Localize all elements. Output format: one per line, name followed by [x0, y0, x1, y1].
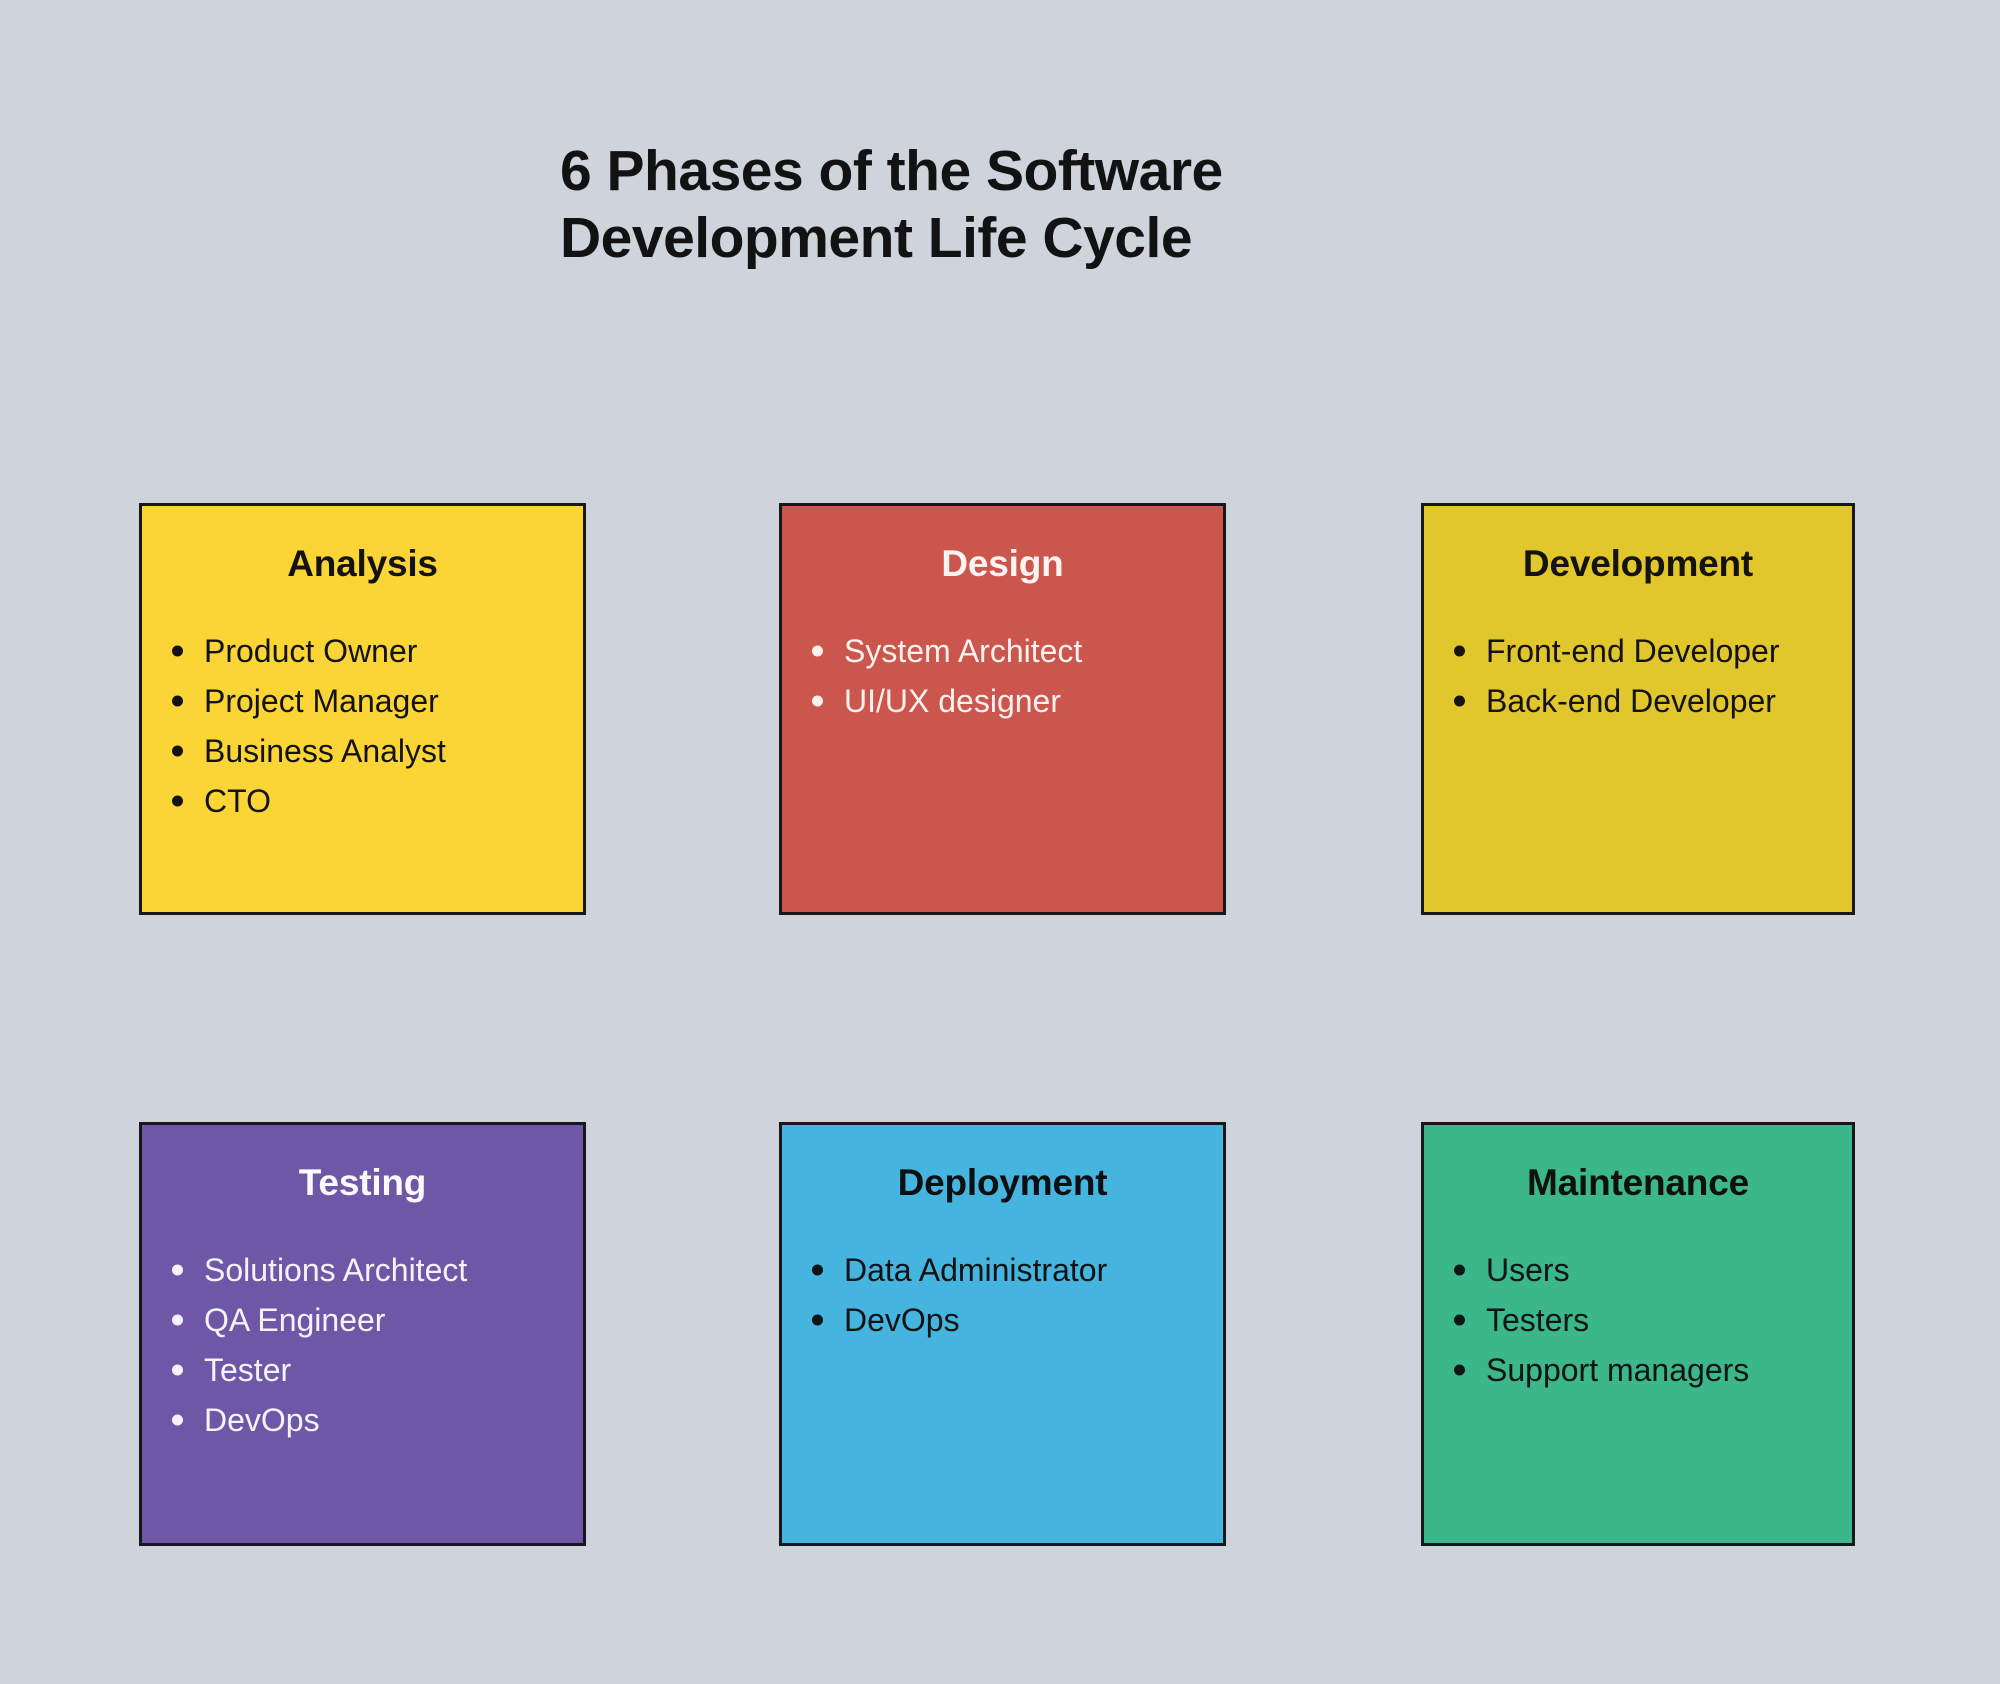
- list-item-label: Solutions Architect: [204, 1252, 467, 1288]
- slide-canvas: 6 Phases of the Software Development Lif…: [0, 0, 2000, 1684]
- list-item-label: Testers: [1486, 1302, 1589, 1338]
- bullet-icon: [172, 1365, 183, 1376]
- phase-card-title: Testing: [152, 1163, 573, 1204]
- list-item-label: QA Engineer: [204, 1302, 385, 1338]
- list-item: Product Owner: [142, 631, 583, 672]
- list-item: Support managers: [1424, 1350, 1852, 1391]
- bullet-icon: [172, 1415, 183, 1426]
- bullet-icon: [1454, 646, 1465, 657]
- list-item: Front-end Developer: [1424, 631, 1852, 672]
- list-item-label: DevOps: [844, 1302, 960, 1338]
- bullet-icon: [812, 1315, 823, 1326]
- phase-card-title: Maintenance: [1434, 1163, 1842, 1204]
- list-item-label: DevOps: [204, 1402, 320, 1438]
- bullet-icon: [812, 1265, 823, 1276]
- phase-card-development[interactable]: Development Front-end Developer Back-end…: [1421, 503, 1855, 915]
- phase-card-testing[interactable]: Testing Solutions Architect QA Engineer …: [139, 1122, 586, 1546]
- list-item: Back-end Developer: [1424, 681, 1852, 722]
- phase-role-list: System Architect UI/UX designer: [782, 631, 1223, 722]
- phase-card-title: Design: [792, 544, 1213, 585]
- list-item-label: Product Owner: [204, 633, 417, 669]
- list-item: CTO: [142, 781, 583, 822]
- bullet-icon: [172, 796, 183, 807]
- phase-role-list: Users Testers Support managers: [1424, 1250, 1852, 1391]
- list-item: Tester: [142, 1350, 583, 1391]
- phase-card-title: Analysis: [152, 544, 573, 585]
- list-item-label: Users: [1486, 1252, 1570, 1288]
- list-item-label: Tester: [204, 1352, 291, 1388]
- list-item: DevOps: [142, 1400, 583, 1441]
- list-item-label: Support managers: [1486, 1352, 1749, 1388]
- list-item-label: Project Manager: [204, 683, 439, 719]
- bullet-icon: [1454, 1265, 1465, 1276]
- bullet-icon: [172, 1315, 183, 1326]
- list-item: System Architect: [782, 631, 1223, 672]
- list-item-label: System Architect: [844, 633, 1082, 669]
- phase-card-analysis[interactable]: Analysis Product Owner Project Manager B…: [139, 503, 586, 915]
- list-item-label: Business Analyst: [204, 733, 446, 769]
- list-item: Solutions Architect: [142, 1250, 583, 1291]
- phase-card-design[interactable]: Design System Architect UI/UX designer: [779, 503, 1226, 915]
- bullet-icon: [812, 646, 823, 657]
- bullet-icon: [1454, 1315, 1465, 1326]
- phase-card-maintenance[interactable]: Maintenance Users Testers Support manage…: [1421, 1122, 1855, 1546]
- list-item: DevOps: [782, 1300, 1223, 1341]
- bullet-icon: [1454, 1365, 1465, 1376]
- list-item-label: Back-end Developer: [1486, 683, 1776, 719]
- phase-card-deployment[interactable]: Deployment Data Administrator DevOps: [779, 1122, 1226, 1546]
- bullet-icon: [1454, 696, 1465, 707]
- phase-card-title: Development: [1434, 544, 1842, 585]
- bullet-icon: [172, 746, 183, 757]
- bullet-icon: [172, 696, 183, 707]
- phase-card-grid: Analysis Product Owner Project Manager B…: [0, 0, 2000, 1684]
- phase-role-list: Front-end Developer Back-end Developer: [1424, 631, 1852, 722]
- list-item: Data Administrator: [782, 1250, 1223, 1291]
- list-item-label: Front-end Developer: [1486, 633, 1779, 669]
- phase-card-title: Deployment: [792, 1163, 1213, 1204]
- list-item-label: CTO: [204, 783, 271, 819]
- list-item: Business Analyst: [142, 731, 583, 772]
- phase-role-list: Product Owner Project Manager Business A…: [142, 631, 583, 822]
- phase-role-list: Data Administrator DevOps: [782, 1250, 1223, 1341]
- list-item-label: Data Administrator: [844, 1252, 1107, 1288]
- bullet-icon: [172, 646, 183, 657]
- list-item: Project Manager: [142, 681, 583, 722]
- list-item-label: UI/UX designer: [844, 683, 1061, 719]
- list-item: UI/UX designer: [782, 681, 1223, 722]
- bullet-icon: [172, 1265, 183, 1276]
- list-item: Testers: [1424, 1300, 1852, 1341]
- list-item: Users: [1424, 1250, 1852, 1291]
- list-item: QA Engineer: [142, 1300, 583, 1341]
- bullet-icon: [812, 696, 823, 707]
- phase-role-list: Solutions Architect QA Engineer Tester D…: [142, 1250, 583, 1441]
